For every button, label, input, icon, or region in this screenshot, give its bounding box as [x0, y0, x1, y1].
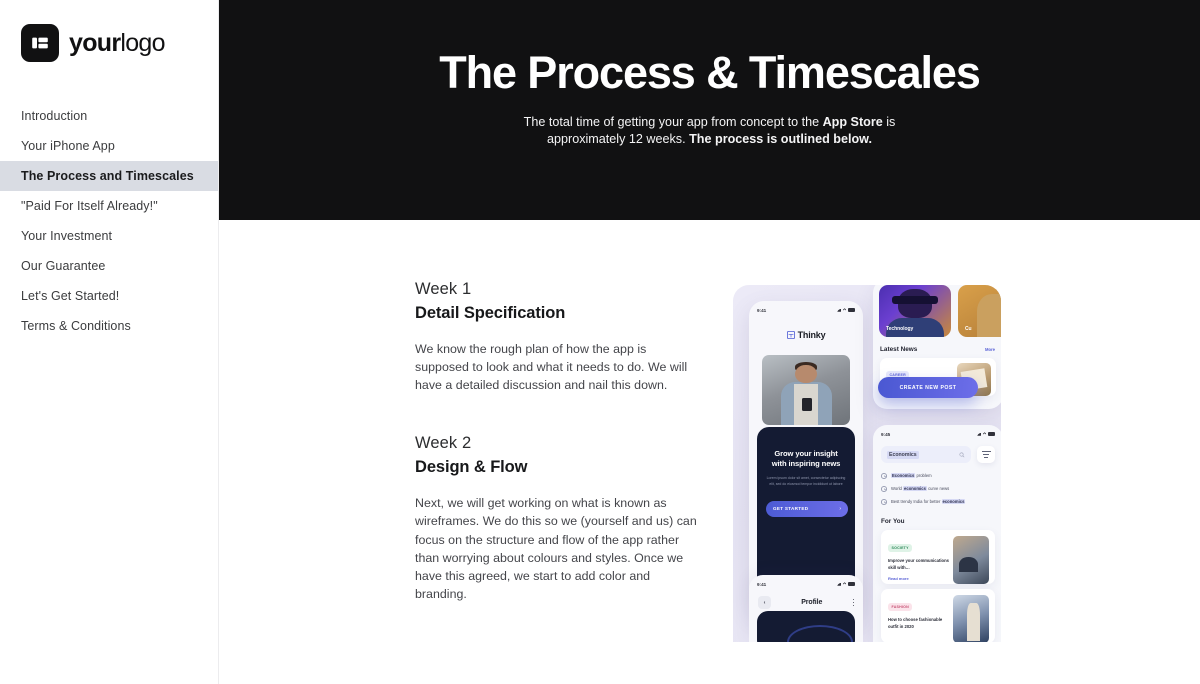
suggestion-pre: World	[891, 486, 903, 491]
photo-vr-headset	[892, 296, 938, 303]
latest-news-more-link[interactable]: More	[985, 347, 995, 352]
battery-icon	[988, 432, 995, 435]
phone-mockup-onboarding: 9:41 Thinky	[749, 301, 863, 613]
card-thumbnail	[953, 595, 989, 642]
status-icons	[837, 582, 855, 585]
layout-dashboard-icon	[787, 331, 795, 339]
card-title: Improve your communications skill with…	[888, 558, 953, 571]
filter-line-2	[983, 454, 989, 455]
brand-word-light: logo	[120, 29, 164, 57]
hero-photo	[762, 355, 850, 425]
create-new-post-button[interactable]: CREATE NEW POST	[878, 377, 978, 398]
signal-icon	[977, 433, 981, 436]
sidebar-item-the-process-and-timescales[interactable]: The Process and Timescales	[0, 161, 218, 191]
suggestion-text: World economics curve news	[891, 486, 949, 491]
brand-wordmark: yourlogo	[69, 31, 165, 56]
battery-icon	[848, 582, 855, 585]
category-label-technology: Technology	[886, 326, 913, 332]
app-brand: Thinky	[749, 330, 863, 340]
suggestion-post: curve news	[927, 486, 949, 491]
battery-icon	[848, 308, 855, 311]
search-input-value: Economics	[887, 451, 919, 459]
sidebar: yourlogo Introduction Your iPhone App Th…	[0, 0, 219, 684]
for-you-card-fashion[interactable]: FASHION How to choose fashionable outfit…	[881, 589, 995, 642]
onboarding-subtext: Lorem ipsum dolor sit amet, consectetur …	[766, 476, 846, 488]
wifi-icon	[843, 582, 847, 585]
photo-head	[898, 289, 933, 318]
filter-icon[interactable]	[977, 446, 995, 463]
week-block-1: Week 1 Detail Specification We know the …	[415, 280, 703, 394]
photo-head	[795, 365, 816, 383]
search-icon	[881, 473, 886, 478]
photo-figure	[977, 294, 1001, 337]
chevron-right-icon: ›	[839, 506, 841, 512]
profile-title: Profile	[801, 599, 822, 606]
profile-header: ‹ Profile	[749, 589, 863, 609]
status-bar: 9:41	[749, 301, 863, 315]
card-text: SOCIETY Improve your communications skil…	[888, 536, 953, 584]
signal-icon	[837, 309, 841, 312]
presentation-page: yourlogo Introduction Your iPhone App Th…	[0, 0, 1200, 684]
suggestion-text: Best trendy India for better economics	[891, 499, 965, 504]
status-time: 9:45	[881, 432, 890, 437]
sidebar-item-our-guarantee[interactable]: Our Guarantee	[0, 251, 218, 281]
app-name: Thinky	[798, 330, 826, 340]
subtitle-bold-outlined-below: The process is outlined below.	[689, 132, 872, 146]
filter-line-1	[982, 451, 991, 452]
status-time: 9:41	[757, 308, 766, 313]
category-card-technology[interactable]: Technology	[879, 285, 951, 337]
onboarding-headline: Grow your insight with inspiring news	[766, 449, 846, 469]
suggestion-hit: Economics	[891, 473, 915, 478]
decorative-arc	[787, 625, 853, 642]
category-row: Technology Cu	[873, 285, 1001, 337]
suggestion-text: Economics problem	[891, 473, 932, 478]
layout-dashboard-icon	[21, 24, 59, 62]
sidebar-item-paid-for-itself-already[interactable]: "Paid For Itself Already!"	[0, 191, 218, 221]
card-text: FASHION How to choose fashionable outfit…	[888, 595, 953, 642]
card-title: How to choose fashionable outfit in 2020	[888, 617, 953, 630]
chevron-left-icon[interactable]: ‹	[758, 596, 771, 609]
dot-2	[853, 602, 855, 604]
suggestion-post: problem	[915, 473, 931, 478]
card-chip-society: SOCIETY	[888, 544, 912, 552]
week-label-2: Week 2	[415, 434, 703, 453]
category-card-culture[interactable]: Cu	[958, 285, 1001, 337]
category-label-culture: Cu	[965, 326, 972, 332]
suggestion-pre: Best trendy India for better	[891, 499, 942, 504]
dot-3	[853, 605, 855, 607]
content-area: Week 1 Detail Specification We know the …	[219, 220, 1200, 684]
thumbnail-figure	[967, 603, 979, 641]
week-body-2: Next, we will get working on what is kno…	[415, 494, 703, 603]
profile-card	[757, 611, 855, 642]
app-mockup-collage: 9:41 Thinky	[733, 285, 1001, 642]
wifi-icon	[843, 308, 847, 311]
read-more-link[interactable]: Read more	[888, 576, 953, 581]
search-icon	[959, 452, 965, 458]
brand-word-bold: your	[69, 29, 120, 57]
subtitle-bold-app-store: App Store	[823, 115, 883, 129]
status-bar: 9:45	[873, 425, 1001, 439]
phone-mockup-search: 9:45 Economics	[873, 425, 1001, 642]
brand-logo[interactable]: yourlogo	[0, 0, 218, 62]
week-label-1: Week 1	[415, 280, 703, 299]
sidebar-item-lets-get-started[interactable]: Let's Get Started!	[0, 281, 218, 311]
search-input[interactable]: Economics	[881, 446, 971, 463]
status-bar: 9:41	[749, 575, 863, 589]
week-title-2: Design & Flow	[415, 458, 703, 477]
status-icons	[837, 308, 855, 311]
suggestion-row[interactable]: World economics curve news	[881, 482, 995, 495]
for-you-title: For You	[873, 508, 1001, 525]
more-vertical-icon[interactable]	[853, 599, 855, 606]
latest-news-header: Latest News More	[873, 337, 1001, 353]
search-row: Economics	[873, 439, 1001, 463]
status-time: 9:41	[757, 582, 766, 587]
wifi-icon	[983, 432, 987, 435]
suggestion-hit: economics	[903, 486, 927, 491]
sidebar-item-your-iphone-app[interactable]: Your iPhone App	[0, 131, 218, 161]
sidebar-nav: Introduction Your iPhone App The Process…	[0, 101, 218, 341]
signal-icon	[837, 583, 841, 586]
subtitle-part-1: The total time of getting your app from …	[524, 115, 823, 129]
thumbnail-figure	[959, 557, 978, 571]
status-icons	[977, 432, 995, 435]
suggestion-hit: economics	[942, 499, 966, 504]
week-blocks: Week 1 Detail Specification We know the …	[415, 280, 703, 603]
get-started-label: GET STARTED	[773, 506, 808, 511]
get-started-button[interactable]: GET STARTED ›	[766, 501, 848, 517]
week-body-1: We know the rough plan of how the app is…	[415, 340, 703, 394]
filter-line-3	[984, 457, 988, 458]
suggestion-row[interactable]: Economics problem	[881, 469, 995, 482]
latest-news-title: Latest News	[880, 346, 917, 353]
search-icon	[881, 486, 886, 491]
page-header: The Process & Timescales The total time …	[219, 0, 1200, 220]
card-thumbnail	[953, 536, 989, 584]
search-icon	[881, 499, 886, 504]
suggestion-row[interactable]: Best trendy India for better economics	[881, 495, 995, 508]
search-suggestions: Economics problem World economics curve …	[873, 463, 1001, 508]
phone-mockup-profile: 9:41 ‹ Profile	[749, 575, 863, 642]
sidebar-item-introduction[interactable]: Introduction	[0, 101, 218, 131]
sidebar-item-terms-and-conditions[interactable]: Terms & Conditions	[0, 311, 218, 341]
week-block-2: Week 2 Design & Flow Next, we will get w…	[415, 434, 703, 603]
page-subtitle: The total time of getting your app from …	[495, 114, 925, 150]
for-you-card-society[interactable]: SOCIETY Improve your communications skil…	[881, 530, 995, 584]
week-title-1: Detail Specification	[415, 304, 703, 323]
sidebar-item-your-investment[interactable]: Your Investment	[0, 221, 218, 251]
page-title: The Process & Timescales	[219, 48, 1200, 98]
photo-phone	[802, 398, 812, 411]
dot-1	[853, 599, 855, 601]
card-chip-fashion: FASHION	[888, 603, 912, 611]
